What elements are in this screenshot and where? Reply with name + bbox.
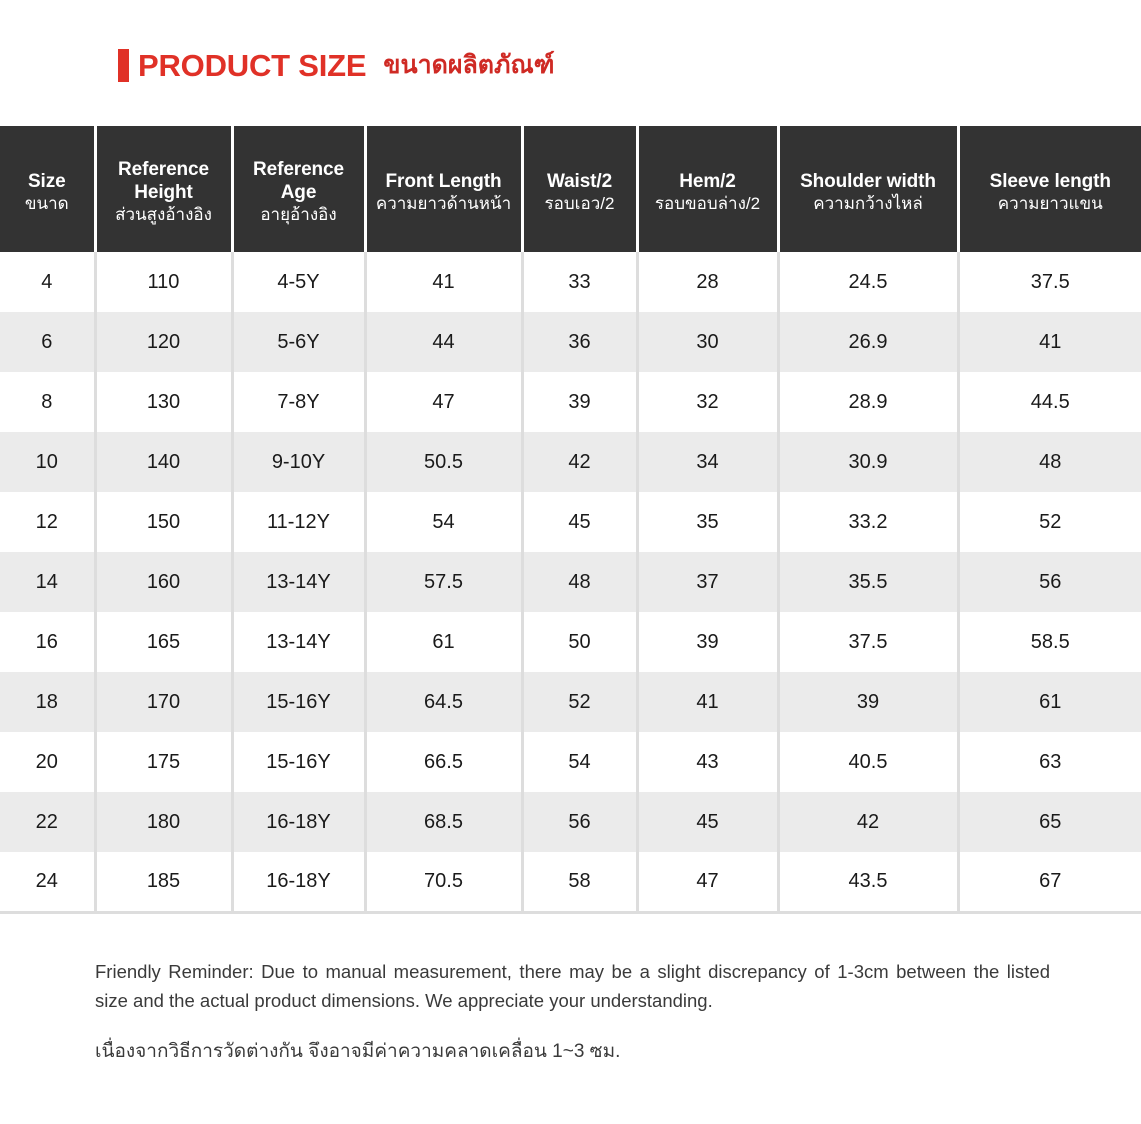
table-cell: 12 — [0, 492, 95, 552]
note-english: Friendly Reminder: Due to manual measure… — [95, 958, 1050, 1015]
page-title: PRODUCT SIZE ขนาดผลิตภัณฑ์ — [0, 0, 1141, 86]
column-header-label-th: ความกว้างไหล่ — [784, 194, 953, 215]
table-cell: 10 — [0, 432, 95, 492]
table-cell: 4 — [0, 252, 95, 312]
table-cell: 54 — [522, 732, 637, 792]
table-cell: 52 — [958, 492, 1141, 552]
table-cell: 58.5 — [958, 612, 1141, 672]
table-cell: 48 — [522, 552, 637, 612]
table-row: 1616513-14Y61503937.558.5 — [0, 612, 1141, 672]
table-cell: 30 — [637, 312, 778, 372]
column-header-size: Size ขนาด — [0, 126, 95, 252]
table-cell: 61 — [365, 612, 522, 672]
table-cell: 7-8Y — [232, 372, 365, 432]
table-cell: 170 — [95, 672, 232, 732]
table-cell: 140 — [95, 432, 232, 492]
table-cell: 13-14Y — [232, 612, 365, 672]
table-cell: 63 — [958, 732, 1141, 792]
table-cell: 61 — [958, 672, 1141, 732]
note-thai: เนื่องจากวิธีการวัดต่างกัน จึงอาจมีค่าคว… — [95, 1037, 1050, 1066]
table-cell: 44 — [365, 312, 522, 372]
table-cell: 30.9 — [778, 432, 958, 492]
table-cell: 120 — [95, 312, 232, 372]
column-header-reference-height: Reference Height ส่วนสูงอ้างอิง — [95, 126, 232, 252]
table-row: 101409-10Y50.5423430.948 — [0, 432, 1141, 492]
column-header-label-th: ความยาวด้านหน้า — [371, 194, 517, 215]
column-header-label-th: ส่วนสูงอ้างอิง — [101, 205, 227, 226]
table-cell: 43.5 — [778, 852, 958, 912]
column-header-label-en: Front Length — [371, 170, 517, 193]
column-header-label-en: Reference Height — [101, 158, 227, 204]
table-cell: 34 — [637, 432, 778, 492]
table-cell: 47 — [637, 852, 778, 912]
column-header-label-th: ขนาด — [4, 194, 90, 215]
table-cell: 16-18Y — [232, 852, 365, 912]
table-cell: 32 — [637, 372, 778, 432]
table-row: 61205-6Y44363026.941 — [0, 312, 1141, 372]
table-cell: 67 — [958, 852, 1141, 912]
table-cell: 165 — [95, 612, 232, 672]
table-cell: 37.5 — [778, 612, 958, 672]
column-header-label-en: Hem/2 — [643, 170, 773, 193]
table-cell: 18 — [0, 672, 95, 732]
table-cell: 130 — [95, 372, 232, 432]
table-cell: 15-16Y — [232, 672, 365, 732]
column-header-label-en: Waist/2 — [528, 170, 632, 193]
table-cell: 57.5 — [365, 552, 522, 612]
table-row: 41104-5Y41332824.537.5 — [0, 252, 1141, 312]
column-header-label-en: Size — [4, 170, 90, 193]
table-cell: 180 — [95, 792, 232, 852]
table-cell: 15-16Y — [232, 732, 365, 792]
table-header: Size ขนาด Reference Height ส่วนสูงอ้างอิ… — [0, 126, 1141, 252]
table-cell: 44.5 — [958, 372, 1141, 432]
table-header-row: Size ขนาด Reference Height ส่วนสูงอ้างอิ… — [0, 126, 1141, 252]
table-row: 2218016-18Y68.556454265 — [0, 792, 1141, 852]
table-cell: 47 — [365, 372, 522, 432]
table-row: 2418516-18Y70.5584743.567 — [0, 852, 1141, 912]
table-row: 2017515-16Y66.5544340.563 — [0, 732, 1141, 792]
table-cell: 16-18Y — [232, 792, 365, 852]
size-chart-table: Size ขนาด Reference Height ส่วนสูงอ้างอิ… — [0, 126, 1141, 914]
table-cell: 39 — [637, 612, 778, 672]
table-cell: 42 — [522, 432, 637, 492]
table-cell: 45 — [522, 492, 637, 552]
table-cell: 36 — [522, 312, 637, 372]
table-cell: 68.5 — [365, 792, 522, 852]
table-row: 1416013-14Y57.5483735.556 — [0, 552, 1141, 612]
column-header-hem-half: Hem/2 รอบขอบล่าง/2 — [637, 126, 778, 252]
title-accent-bar-icon — [118, 49, 129, 82]
table-cell: 65 — [958, 792, 1141, 852]
table-cell: 24.5 — [778, 252, 958, 312]
table-cell: 175 — [95, 732, 232, 792]
table-cell: 64.5 — [365, 672, 522, 732]
table-cell: 39 — [522, 372, 637, 432]
table-cell: 54 — [365, 492, 522, 552]
table-cell: 35 — [637, 492, 778, 552]
column-header-waist-half: Waist/2 รอบเอว/2 — [522, 126, 637, 252]
table-cell: 28.9 — [778, 372, 958, 432]
table-cell: 66.5 — [365, 732, 522, 792]
page-title-english: PRODUCT SIZE — [138, 50, 366, 81]
column-header-label-th: ความยาวแขน — [964, 194, 1138, 215]
table-cell: 41 — [958, 312, 1141, 372]
table-cell: 70.5 — [365, 852, 522, 912]
column-header-label-th: รอบเอว/2 — [528, 194, 632, 215]
table-cell: 41 — [637, 672, 778, 732]
table-cell: 37.5 — [958, 252, 1141, 312]
column-header-sleeve-length: Sleeve length ความยาวแขน — [958, 126, 1141, 252]
table-cell: 35.5 — [778, 552, 958, 612]
column-header-label-th: รอบขอบล่าง/2 — [643, 194, 773, 215]
table-cell: 110 — [95, 252, 232, 312]
table-cell: 33.2 — [778, 492, 958, 552]
table-cell: 48 — [958, 432, 1141, 492]
column-header-label-th: อายุอ้างอิง — [238, 205, 360, 226]
table-cell: 160 — [95, 552, 232, 612]
table-cell: 37 — [637, 552, 778, 612]
column-header-shoulder-width: Shoulder width ความกว้างไหล่ — [778, 126, 958, 252]
column-header-label-en: Shoulder width — [784, 170, 953, 193]
table-cell: 9-10Y — [232, 432, 365, 492]
table-cell: 22 — [0, 792, 95, 852]
table-cell: 33 — [522, 252, 637, 312]
product-size-chart-page: PRODUCT SIZE ขนาดผลิตภัณฑ์ Size ขนาด Ref… — [0, 0, 1141, 1124]
table-cell: 24 — [0, 852, 95, 912]
column-header-label-en: Sleeve length — [964, 170, 1138, 193]
table-cell: 56 — [958, 552, 1141, 612]
table-cell: 45 — [637, 792, 778, 852]
table-cell: 58 — [522, 852, 637, 912]
table-cell: 6 — [0, 312, 95, 372]
table-cell: 5-6Y — [232, 312, 365, 372]
footer-notes: Friendly Reminder: Due to manual measure… — [95, 958, 1050, 1067]
table-cell: 28 — [637, 252, 778, 312]
table-cell: 42 — [778, 792, 958, 852]
table-row: 1215011-12Y54453533.252 — [0, 492, 1141, 552]
table-cell: 20 — [0, 732, 95, 792]
table-cell: 26.9 — [778, 312, 958, 372]
table-row: 81307-8Y47393228.944.5 — [0, 372, 1141, 432]
table-cell: 52 — [522, 672, 637, 732]
page-title-thai: ขนาดผลิตภัณฑ์ — [383, 53, 554, 78]
table-cell: 8 — [0, 372, 95, 432]
table-cell: 50 — [522, 612, 637, 672]
column-header-reference-age: Reference Age อายุอ้างอิง — [232, 126, 365, 252]
table-cell: 14 — [0, 552, 95, 612]
table-cell: 39 — [778, 672, 958, 732]
table-row: 1817015-16Y64.552413961 — [0, 672, 1141, 732]
table-cell: 150 — [95, 492, 232, 552]
column-header-front-length: Front Length ความยาวด้านหน้า — [365, 126, 522, 252]
table-cell: 13-14Y — [232, 552, 365, 612]
table-body: 41104-5Y41332824.537.561205-6Y44363026.9… — [0, 252, 1141, 912]
table-cell: 11-12Y — [232, 492, 365, 552]
table-cell: 4-5Y — [232, 252, 365, 312]
table-cell: 41 — [365, 252, 522, 312]
column-header-label-en: Reference Age — [238, 158, 360, 204]
table-cell: 16 — [0, 612, 95, 672]
table-cell: 40.5 — [778, 732, 958, 792]
table-cell: 50.5 — [365, 432, 522, 492]
table-cell: 43 — [637, 732, 778, 792]
table-cell: 185 — [95, 852, 232, 912]
table-cell: 56 — [522, 792, 637, 852]
